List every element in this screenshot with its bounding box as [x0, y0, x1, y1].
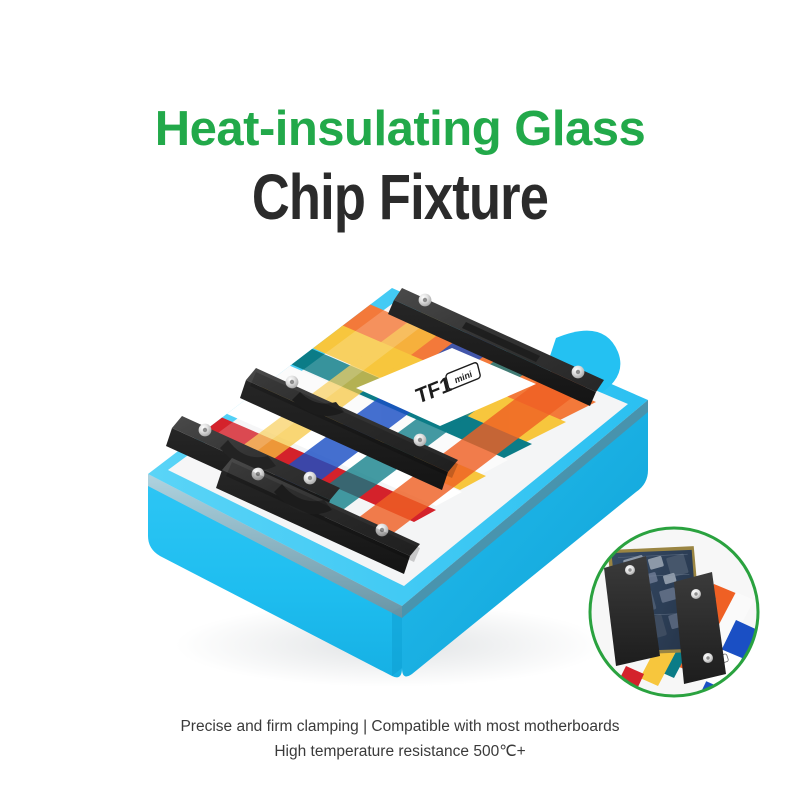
screw-slot	[418, 438, 422, 442]
brand-label-panel	[356, 348, 536, 426]
base-top-rim	[148, 288, 648, 606]
screw-slot	[256, 472, 260, 476]
clamp-arm-middle-side	[240, 380, 448, 490]
footer-line-temperature: High temperature resistance 500℃+	[0, 739, 800, 764]
stripe-orange-1	[318, 300, 596, 422]
clamp-arm-front-top	[222, 458, 420, 556]
clamp-shadows	[226, 372, 458, 562]
footer-line-features: Precise and firm clamping | Compatible w…	[0, 714, 800, 739]
brand-text: TF1	[414, 372, 454, 409]
screw-head-icon	[376, 524, 389, 537]
screw-head-icon	[199, 424, 212, 437]
fixture-base	[148, 288, 648, 677]
application-inset: TF1 mini	[586, 524, 762, 700]
stripe-white-2	[200, 390, 462, 506]
product-poster: Heat-insulating Glass Chip Fixture	[0, 0, 800, 800]
screw-head-icon	[414, 434, 427, 447]
clamp-arm-middle	[240, 368, 458, 490]
clamp-arm-top-right-top	[394, 288, 604, 392]
clamp-arm-front-side	[216, 470, 410, 574]
screw-slot	[694, 592, 697, 595]
product-shadow	[175, 603, 605, 687]
stripe-yellow-2	[224, 374, 486, 490]
heat-insulating-glass-platform	[168, 300, 628, 586]
screw-slot	[423, 298, 427, 302]
headline-block: Heat-insulating Glass Chip Fixture	[0, 104, 800, 232]
clamp-arm-front-notch	[274, 484, 332, 514]
screw-head-icon	[286, 376, 299, 389]
stripe-red-1	[178, 408, 436, 522]
screw-slot	[380, 528, 384, 532]
mini-badge-box	[445, 362, 480, 390]
screw-slot	[290, 380, 294, 384]
screw-slot	[203, 428, 207, 432]
mini-badge-text: mini	[454, 369, 474, 386]
screw-slot	[308, 476, 312, 480]
stripe-teal-1	[268, 342, 532, 458]
clamp-arm-middle-top	[246, 368, 458, 472]
screw-head-icon	[419, 294, 432, 307]
platform-gloss	[168, 304, 430, 488]
clamp-arm-left-side	[166, 428, 330, 518]
platform-base-plate	[168, 304, 628, 586]
stripe-orange-x	[358, 368, 590, 534]
glass-edge-left	[148, 474, 402, 618]
headline-primary: Heat-insulating Glass	[0, 104, 800, 156]
base-rear-lug	[548, 331, 620, 396]
platform-stripe-group-b	[226, 310, 590, 534]
screw-slot	[706, 656, 709, 659]
clamp-arm-left	[166, 416, 340, 518]
stripe-teal-x	[310, 348, 540, 512]
stripe-yellow-1	[290, 320, 566, 442]
clamp-arm-left-notch	[220, 440, 276, 470]
base-corner-highlight	[392, 606, 402, 676]
brand-mark: TF1 mini	[414, 361, 483, 409]
stripe-blue-x	[268, 330, 500, 496]
footer-block: Precise and firm clamping | Compatible w…	[0, 714, 800, 764]
screw-slot	[628, 568, 631, 571]
screw-head-icon	[252, 468, 265, 481]
base-front-face	[148, 474, 402, 677]
clamp-arm-left-top	[172, 416, 340, 500]
headline-secondary: Chip Fixture	[72, 162, 728, 232]
clamp-arm-middle-notch	[292, 392, 344, 416]
platform-stripe-group-a	[178, 300, 596, 522]
stripe-yellow-x	[226, 310, 452, 474]
screw-head-icon	[572, 366, 585, 379]
clamp-arm-front	[216, 458, 420, 574]
stripe-white-1	[246, 358, 508, 474]
clamp-arm-top-right-side	[388, 300, 596, 406]
screw-head-icon	[304, 472, 317, 485]
clamp-arm-top-right-slot	[462, 322, 540, 362]
clamp-arm-top-right	[388, 288, 604, 406]
inset-content: TF1 mini	[586, 524, 762, 700]
screw-slot	[576, 370, 580, 374]
